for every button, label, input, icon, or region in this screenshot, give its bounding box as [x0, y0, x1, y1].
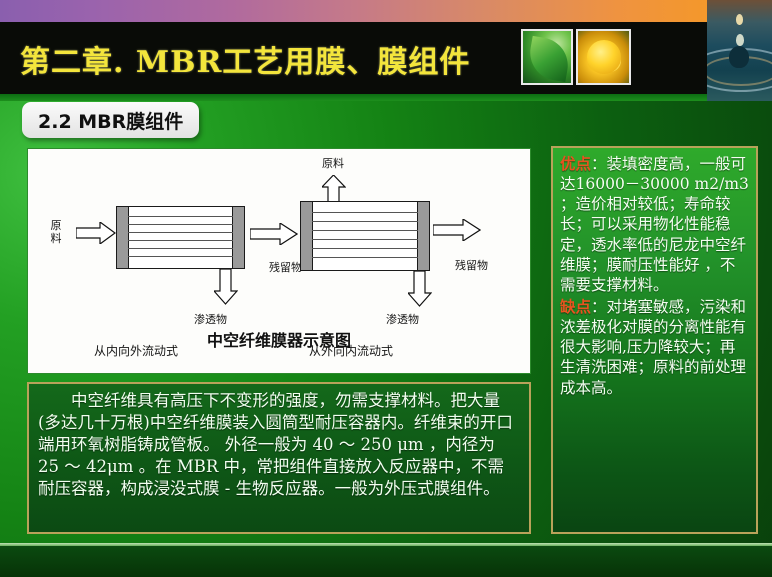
pros-cons-panel: 优点：装填密度高，一般可达16000－30000 m2/m3 ；造价相对较低；寿… — [551, 146, 758, 534]
title-underglow — [0, 94, 772, 101]
footer-band — [0, 546, 772, 577]
cons-block: 缺点：对堵塞敏感，污染和浓差极化对膜的分离性能有很大影响,压力降较大；再生清洗困… — [560, 297, 749, 398]
right-retentate-arrow — [433, 219, 481, 241]
water-drop-photo — [707, 0, 772, 101]
section-badge[interactable]: 2.2 MBR膜组件 — [22, 102, 199, 138]
fiber-line — [128, 256, 233, 257]
fiber-line — [312, 230, 418, 231]
right-module-body — [300, 201, 430, 271]
droplet-crown — [729, 46, 749, 68]
right-retentate-label: 残留物 — [455, 257, 488, 273]
pros-label: 优点 — [560, 154, 591, 173]
flower-photo-thumbnail — [576, 29, 631, 85]
flower-icon — [587, 40, 621, 74]
cons-label: 缺点 — [560, 297, 591, 316]
left-module-body — [116, 206, 245, 269]
diagram-panel: 原料 残留物 渗透物 从内向外流动式 原料 — [27, 148, 531, 374]
fiber-line — [312, 257, 418, 258]
pros-text: ：装填密度高，一般可达16000－30000 m2/m3 ；造价相对较低；寿命较… — [560, 155, 749, 294]
left-feed-arrow — [76, 222, 116, 244]
leaf-icon — [526, 36, 572, 82]
droplet-lower — [736, 34, 744, 46]
slide-canvas: 第二章. MBR工艺用膜、膜组件 2.2 MBR膜组件 原料 — [0, 0, 772, 577]
diagram-caption: 中空纤维膜器示意图 — [28, 327, 530, 351]
right-feed-label: 原料 — [322, 155, 344, 171]
left-retentate-label: 残留物 — [269, 259, 302, 275]
left-retentate-arrow — [250, 223, 298, 245]
left-permeate-arrow — [214, 269, 238, 305]
fiber-line — [128, 232, 233, 233]
leaf-photo-thumbnail — [521, 29, 573, 85]
pros-block: 优点：装填密度高，一般可达16000－30000 m2/m3 ；造价相对较低；寿… — [560, 154, 749, 295]
fiber-line — [312, 248, 418, 249]
left-feed-label: 原料 — [50, 219, 62, 245]
description-text: 中空纤维具有高压下不变形的强度，勿需支撑材料。把大量(多达几十万根)中空纤维膜装… — [38, 390, 520, 500]
description-panel: 中空纤维具有高压下不变形的强度，勿需支撑材料。把大量(多达几十万根)中空纤维膜装… — [27, 382, 531, 534]
fiber-line — [312, 221, 418, 222]
right-permeate-label: 渗透物 — [386, 311, 419, 327]
droplet-upper — [736, 14, 743, 25]
fiber-line — [128, 224, 233, 225]
right-permeate-arrow — [408, 271, 432, 307]
top-gradient-band — [0, 0, 772, 22]
fiber-line — [312, 212, 418, 213]
left-permeate-label: 渗透物 — [194, 311, 227, 327]
right-module-endcap-right — [417, 202, 429, 270]
fiber-line — [128, 240, 233, 241]
fiber-line — [312, 239, 418, 240]
page-title: 第二章. MBR工艺用膜、膜组件 — [20, 28, 520, 90]
fiber-line — [128, 216, 233, 217]
left-module-endcap-right — [232, 207, 244, 268]
fiber-line — [128, 248, 233, 249]
